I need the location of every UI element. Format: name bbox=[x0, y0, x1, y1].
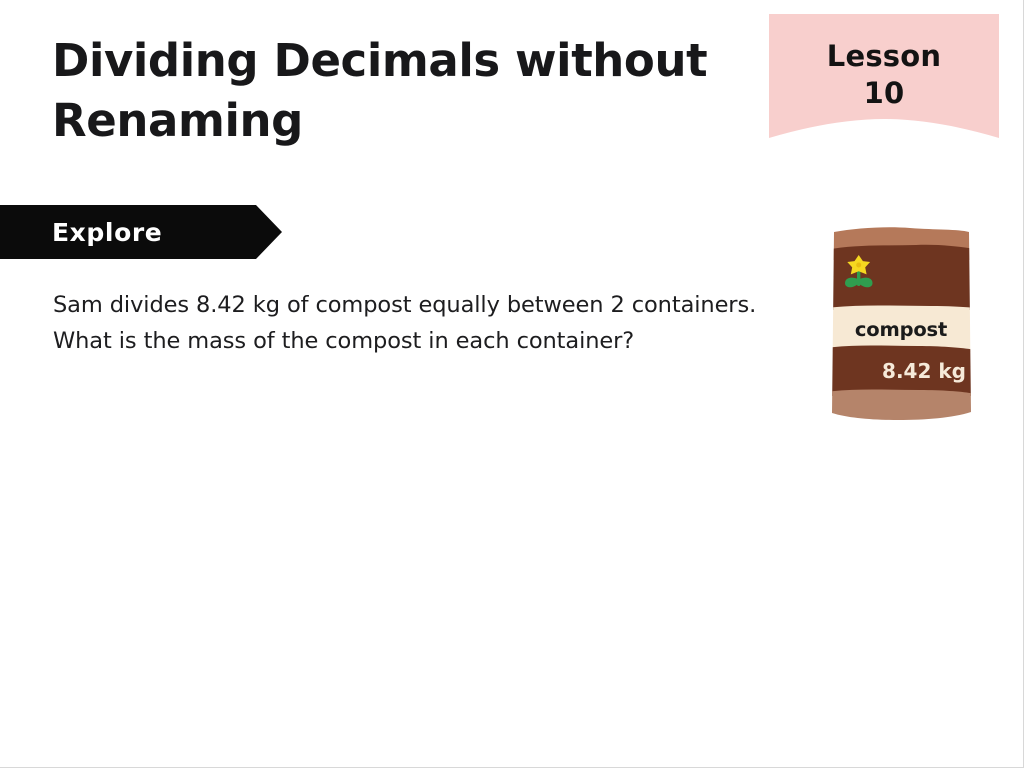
compost-bag-graphic: compost 8.42 kg bbox=[826, 226, 976, 422]
page-title-line-2: Renaming bbox=[52, 91, 742, 151]
bag-weight-label: 8.42 kg bbox=[882, 359, 966, 383]
lesson-badge-label: Lesson bbox=[769, 38, 999, 75]
compost-bag-illustration: compost 8.42 kg bbox=[826, 226, 976, 422]
lesson-badge: Lesson 10 bbox=[769, 14, 999, 138]
explore-banner: Explore bbox=[0, 205, 282, 259]
explore-banner-label: Explore bbox=[52, 205, 162, 259]
lesson-slide: Dividing Decimals without Renaming Lesso… bbox=[0, 0, 1024, 768]
lesson-badge-text: Lesson 10 bbox=[769, 38, 999, 112]
problem-statement: Sam divides 8.42 kg of compost equally b… bbox=[53, 288, 793, 359]
bag-caption: compost bbox=[855, 318, 947, 341]
page-title: Dividing Decimals without Renaming bbox=[52, 31, 742, 151]
problem-statement-line-2: What is the mass of the compost in each … bbox=[53, 324, 793, 360]
bag-bottom-band bbox=[826, 390, 976, 423]
page-title-line-1: Dividing Decimals without bbox=[52, 31, 742, 91]
lesson-badge-number: 10 bbox=[769, 75, 999, 112]
problem-statement-line-1: Sam divides 8.42 kg of compost equally b… bbox=[53, 288, 793, 324]
bag-upper-dark-band bbox=[826, 245, 976, 310]
